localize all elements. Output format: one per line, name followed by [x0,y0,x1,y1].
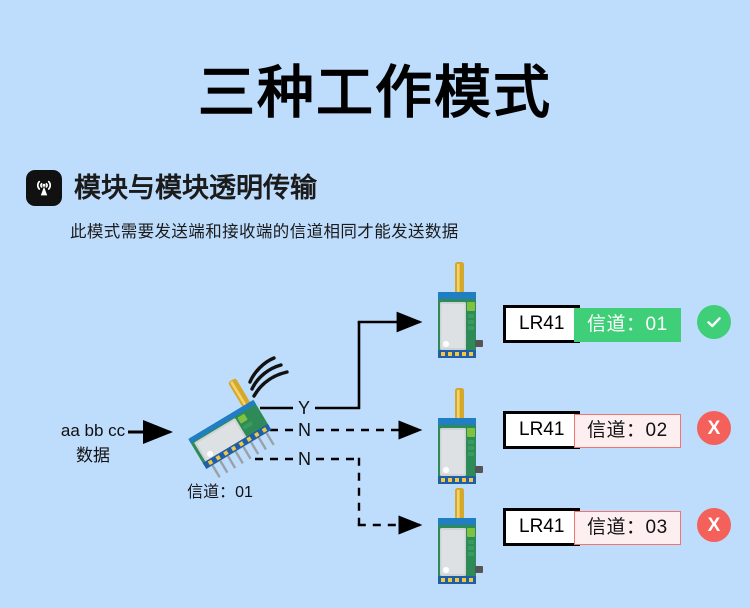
source-data-hex: aa bb cc [38,418,148,443]
section-subtitle: 此模式需要发送端和接收端的信道相同才能发送数据 [70,218,459,242]
receiver-channel-badge-3: 信道：03 [574,511,681,545]
source-data-word: 数据 [38,443,148,468]
branch-label-n-1: N [298,421,311,439]
broadcast-antenna-icon [26,170,62,206]
receiver-module-2 [428,388,486,488]
receiver-channel-badge-1: 信道：01 [574,308,681,342]
section-title-text: 模块与模块透明传输 [74,173,317,203]
receiver-module-3 [428,488,486,588]
page-title: 三种工作模式 [0,58,750,128]
branch-label-y: Y [298,399,310,417]
status-badge-ok-1 [697,305,731,339]
receiver-model-box-2: LR41 [503,411,580,449]
receiver-module-1 [428,262,486,362]
cross-icon: X [708,516,721,535]
receiver-model-box-3: LR41 [503,508,580,546]
branch-path-y [260,322,420,409]
section-heading: 模块与模块透明传输 [26,170,317,206]
transmitter-module [176,378,276,478]
status-badge-bad-3: X [697,508,731,542]
cross-icon: X [708,419,721,438]
status-badge-bad-2: X [697,411,731,445]
receiver-model-box-1: LR41 [503,305,580,343]
branch-label-n-2: N [298,450,311,468]
check-icon [704,312,724,332]
source-data-label: aa bb cc 数据 [38,418,148,468]
poster-canvas: 三种工作模式 模块与模块透明传输 此模式需要发送端和接收端的信道相同才能发送数据… [0,0,750,608]
transmitter-channel-label: 信道：01 [160,478,280,502]
receiver-channel-badge-2: 信道：02 [574,414,681,448]
